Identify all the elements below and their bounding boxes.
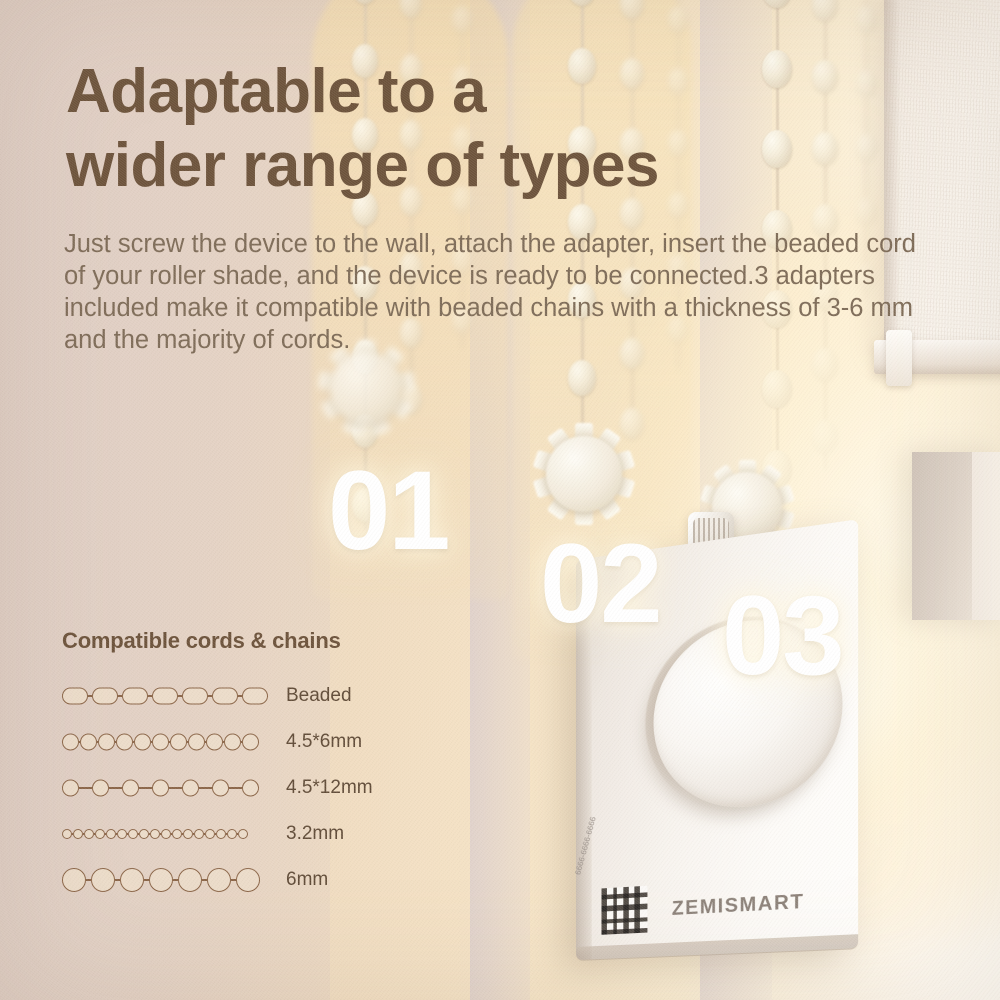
chain-connector	[109, 787, 122, 789]
gear-body	[546, 436, 622, 512]
chain-bead	[216, 829, 226, 839]
chain-bead	[207, 868, 231, 892]
chain-bead	[120, 868, 144, 892]
chain-bead	[122, 688, 148, 705]
chain-bead	[182, 780, 199, 797]
headline-line-1: Adaptable to a	[66, 57, 486, 126]
chain-bead	[128, 829, 138, 839]
chain-bead	[84, 829, 94, 839]
chain-bead	[568, 0, 596, 6]
chain-diagram-circle-tiny	[62, 817, 262, 851]
chain-diagram-circle-big	[62, 863, 262, 897]
chain-row: Beaded	[62, 676, 422, 716]
chain-bead	[183, 829, 193, 839]
chain-bead	[212, 688, 238, 705]
chain-bead	[206, 734, 223, 751]
wall-sconce-fold	[972, 452, 1000, 620]
chain-bead	[134, 734, 151, 751]
step-number-02: 02	[540, 528, 661, 640]
chain-bead	[242, 734, 259, 751]
chain-connector	[199, 787, 212, 789]
chain-bead	[62, 688, 88, 705]
chain-bead	[80, 734, 97, 751]
chain-bead	[116, 734, 133, 751]
chain-bead	[194, 829, 204, 839]
chain-diagram-circle-long	[62, 771, 262, 805]
step-number-03: 03	[722, 580, 843, 692]
chain-bead	[152, 780, 169, 797]
chain-bead	[62, 780, 79, 797]
chain-bead	[400, 0, 422, 18]
brand-wordmark: ZEMISMART	[672, 891, 805, 921]
chain-bead	[92, 688, 118, 705]
chain-bead	[149, 868, 173, 892]
chain-bead	[224, 734, 241, 751]
chain-bead	[95, 829, 105, 839]
chain-bead	[812, 60, 838, 93]
adapter-gear-1	[330, 352, 402, 424]
chain-label: 3.2mm	[286, 823, 344, 845]
chain-bead	[812, 0, 838, 21]
chain-bead	[352, 0, 378, 4]
chain-label: Beaded	[286, 685, 352, 707]
chain-bead	[91, 868, 115, 892]
chain-bead	[856, 6, 877, 33]
headline: Adaptable to a wider range of types	[66, 55, 766, 203]
chain-bead	[568, 360, 596, 396]
chain-row: 3.2mm	[62, 814, 422, 854]
chain-bead	[856, 134, 877, 161]
chain-bead	[242, 688, 268, 705]
chain-label: 4.5*12mm	[286, 777, 373, 799]
chain-bead	[150, 829, 160, 839]
chain-bead	[812, 132, 838, 165]
chain-bead	[238, 829, 248, 839]
chain-bead	[188, 734, 205, 751]
chain-bead	[205, 829, 215, 839]
step-number-01: 01	[328, 455, 449, 567]
chain-bead	[62, 829, 72, 839]
chain-bead	[106, 829, 116, 839]
compatible-cords-list: Beaded4.5*6mm4.5*12mm3.2mm6mm	[62, 676, 422, 900]
chain-bead	[62, 868, 86, 892]
chain-diagram-oval-wide	[62, 679, 262, 713]
chain-bead	[152, 734, 169, 751]
chain-connector	[229, 787, 242, 789]
chain-bead	[139, 829, 149, 839]
chain-label: 6mm	[286, 869, 328, 891]
chain-bead	[122, 780, 139, 797]
headline-line-2: wider range of types	[66, 129, 766, 203]
chain-bead	[170, 734, 187, 751]
chain-bead	[668, 6, 688, 32]
gear-body	[330, 352, 402, 424]
chain-diagram-circle-tight	[62, 725, 262, 759]
chain-bead	[242, 780, 259, 797]
chain-bead	[212, 780, 229, 797]
compatible-cords-panel: Compatible cords & chains Beaded4.5*6mm4…	[62, 628, 422, 906]
chain-bead	[620, 0, 644, 19]
chain-row: 4.5*12mm	[62, 768, 422, 808]
chain-bead	[236, 868, 260, 892]
chain-bead	[227, 829, 237, 839]
chain-bead	[73, 829, 83, 839]
chain-connector	[169, 787, 182, 789]
body-paragraph: Just screw the device to the wall, attac…	[64, 228, 932, 356]
chain-bead	[98, 734, 115, 751]
chain-bead	[762, 130, 792, 168]
chain-bead	[152, 688, 178, 705]
chain-bead	[178, 868, 202, 892]
chain-row: 4.5*6mm	[62, 722, 422, 762]
chain-bead	[161, 829, 171, 839]
chain-bead	[117, 829, 127, 839]
chain-row: 6mm	[62, 860, 422, 900]
chain-bead	[762, 0, 792, 8]
chain-bead	[92, 780, 109, 797]
chain-bead	[182, 688, 208, 705]
chain-bead	[172, 829, 182, 839]
adapter-gear-2	[546, 436, 622, 512]
compatible-cords-title: Compatible cords & chains	[62, 628, 422, 654]
chain-label: 4.5*6mm	[286, 731, 362, 753]
chain-bead	[856, 70, 877, 97]
chain-bead	[452, 6, 472, 33]
chain-bead	[62, 734, 79, 751]
qr-code-icon	[601, 886, 647, 935]
product-marketing-image: 6666-6666-6666 ZEMISMART 01 02 03 Adapta…	[0, 0, 1000, 1000]
chain-bead	[762, 50, 792, 88]
chain-connector	[79, 787, 92, 789]
chain-connector	[139, 787, 152, 789]
